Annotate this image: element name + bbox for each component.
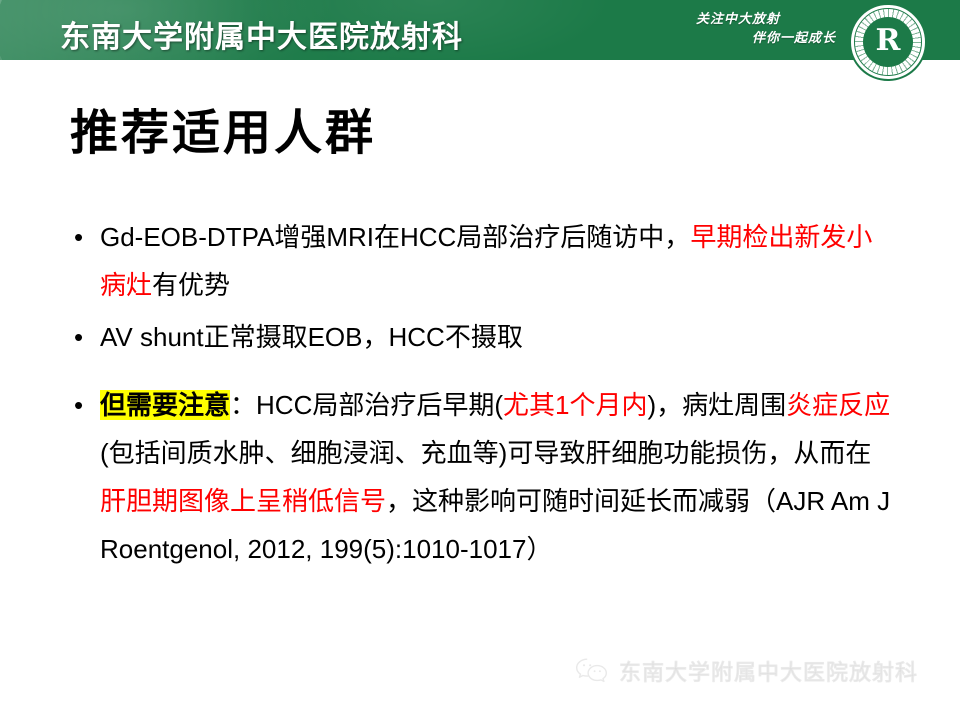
run-text: ：HCC局部治疗后早期(	[230, 390, 503, 420]
bullet-marker: •	[74, 381, 83, 429]
bullet-item-1: • Gd-EOB-DTPA增强MRI在HCC局部治疗后随访中，早期检出新发小病灶…	[74, 213, 894, 309]
bullet-item-3: • 但需要注意：HCC局部治疗后早期(尤其1个月内)，病灶周围炎症反应(包括间质…	[74, 381, 894, 573]
run-text-emphasis: 尤其1个月内	[503, 390, 647, 420]
run-text-emphasis: 肝胆期图像上呈稍低信号	[100, 486, 386, 516]
bullet-item-2: • AV shunt正常摄取EOB，HCC不摄取	[74, 313, 894, 361]
footer-text: 东南大学附属中大医院放射科	[619, 655, 918, 687]
run-text: (包括间质水肿、细胞浸润、充血等)可导致肝细胞功能损伤，从而在	[100, 438, 871, 468]
slide-content: 推荐适用人群 • Gd-EOB-DTPA增强MRI在HCC局部治疗后随访中，早期…	[0, 0, 960, 720]
run-text-emphasis: 炎症反应	[786, 390, 890, 420]
slide-title: 推荐适用人群	[70, 93, 376, 163]
run-text-highlight: 但需要注意	[100, 390, 230, 420]
footer-watermark: 东南大学附属中大医院放射科	[575, 655, 918, 687]
wechat-icon	[575, 657, 609, 685]
run-text: AV shunt正常摄取EOB，HCC不摄取	[100, 322, 523, 352]
bullet-text-1: Gd-EOB-DTPA增强MRI在HCC局部治疗后随访中，早期检出新发小病灶有优…	[74, 213, 894, 309]
run-text: Gd-EOB-DTPA增强MRI在HCC局部治疗后随访中，	[100, 222, 690, 252]
run-text: )，病灶周围	[647, 390, 786, 420]
bullet-text-3: 但需要注意：HCC局部治疗后早期(尤其1个月内)，病灶周围炎症反应(包括间质水肿…	[74, 381, 894, 573]
bullet-marker: •	[74, 213, 83, 261]
bullet-marker: •	[74, 313, 83, 361]
bullet-text-2: AV shunt正常摄取EOB，HCC不摄取	[74, 313, 894, 361]
run-text: 有优势	[152, 270, 230, 300]
